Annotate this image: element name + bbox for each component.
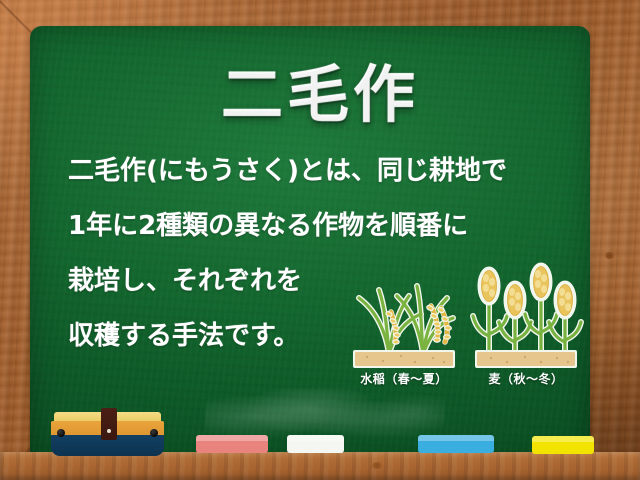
chalk-ledge (0, 452, 640, 480)
chalkboard-slide: 二毛作 二毛作(にもうさく)とは、同じ耕地で 1年に2種類の異なる作物を順番に … (0, 0, 640, 480)
eraser-rivet-right (150, 429, 158, 437)
chalk-yellow[interactable] (532, 436, 594, 454)
chalk-pink[interactable] (196, 435, 268, 453)
wheat-illustration: 麦（秋〜冬） (467, 262, 585, 387)
chalk-blue[interactable] (418, 435, 494, 453)
ledge-wood-knot (372, 462, 382, 469)
wheat-label: 麦（秋〜冬） (467, 370, 585, 387)
wood-knot (605, 252, 614, 259)
rice-plant-icon (345, 262, 463, 374)
crop-illustrations: 水稲（春〜夏） (345, 262, 585, 387)
page-title: 二毛作 (0, 44, 640, 134)
eraser-strap (101, 408, 117, 440)
eraser-strap-rivet (107, 429, 111, 433)
wheat-plant-icon (467, 262, 585, 374)
rice-label: 水稲（春〜夏） (345, 370, 463, 387)
rice-illustration: 水稲（春〜夏） (345, 262, 463, 387)
eraser-rivet-left (57, 429, 65, 437)
chalk-smudge (205, 388, 445, 440)
body-line-2: 1年に2種類の異なる作物を順番に (68, 213, 468, 239)
chalk-white[interactable] (287, 435, 344, 453)
blackboard-eraser[interactable] (51, 412, 164, 456)
body-line-1: 二毛作(にもうさく)とは、同じ耕地で (68, 158, 468, 184)
